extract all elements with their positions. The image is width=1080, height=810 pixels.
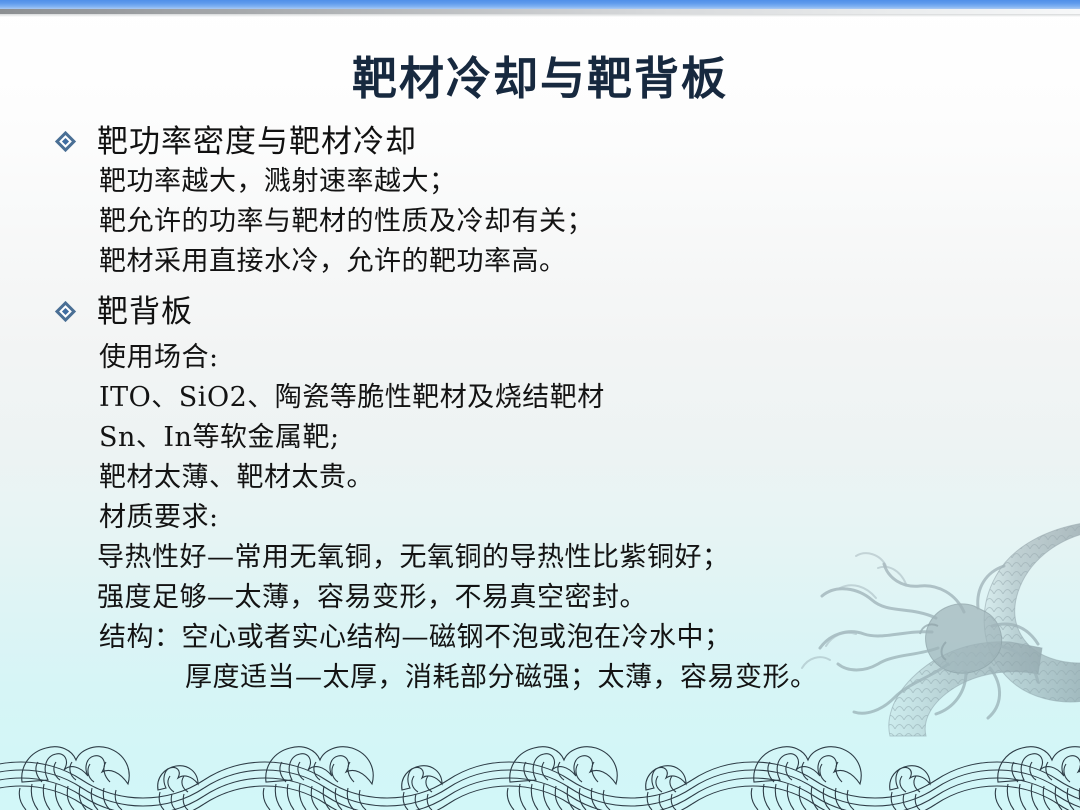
body-line: 靶材采用直接水冷，允许的靶功率高。 — [0, 242, 1080, 282]
bullet-heading-label: 靶功率密度与靶材冷却 — [97, 122, 417, 162]
ocean-wave-pattern — [0, 732, 1080, 810]
body-line: 厚度适当—太厚，消耗部分磁强；太薄，容易变形。 — [0, 658, 1080, 698]
slide-canvas: 靶材冷却与靶背板 靶功率密度与靶材冷却 靶功率越大，溅射速率越大； 靶允许的功率… — [0, 0, 1080, 810]
body-line: ITO、SiO2、陶瓷等脆性靶材及烧结靶材 — [0, 378, 1080, 418]
top-accent-bar — [0, 0, 1080, 9]
slide-content: 靶功率密度与靶材冷却 靶功率越大，溅射速率越大； 靶允许的功率与靶材的性质及冷却… — [0, 122, 1080, 698]
bullet-heading-label: 靶背板 — [97, 292, 193, 332]
bullet-heading-row: 靶功率密度与靶材冷却 — [0, 122, 1080, 162]
diamond-bullet-icon — [55, 301, 76, 322]
bullet-section-1: 靶功率密度与靶材冷却 靶功率越大，溅射速率越大； 靶允许的功率与靶材的性质及冷却… — [0, 122, 1080, 282]
body-line: 靶功率越大，溅射速率越大； — [0, 162, 1080, 202]
body-line: 使用场合: — [0, 338, 1080, 378]
section-spacer — [0, 282, 1080, 292]
page-title: 靶材冷却与靶背板 — [0, 42, 1080, 107]
bullet-heading-row: 靶背板 — [0, 292, 1080, 332]
top-divider-shadow — [0, 14, 1080, 17]
body-line: 结构：空心或者实心结构—磁钢不泡或泡在冷水中； — [0, 618, 1080, 658]
body-line: Sn、In等软金属靶; — [0, 418, 1080, 458]
body-line: 靶允许的功率与靶材的性质及冷却有关； — [0, 202, 1080, 242]
body-line: 靶材太薄、靶材太贵。 — [0, 458, 1080, 498]
diamond-bullet-icon — [55, 131, 76, 152]
body-line: 导热性好—常用无氧铜，无氧铜的导热性比紫铜好； — [0, 538, 1080, 578]
body-line: 材质要求: — [0, 498, 1080, 538]
body-line: 强度足够—太薄，容易变形，不易真空密封。 — [0, 578, 1080, 618]
bullet-section-2: 靶背板 使用场合: ITO、SiO2、陶瓷等脆性靶材及烧结靶材 Sn、In等软金… — [0, 292, 1080, 698]
